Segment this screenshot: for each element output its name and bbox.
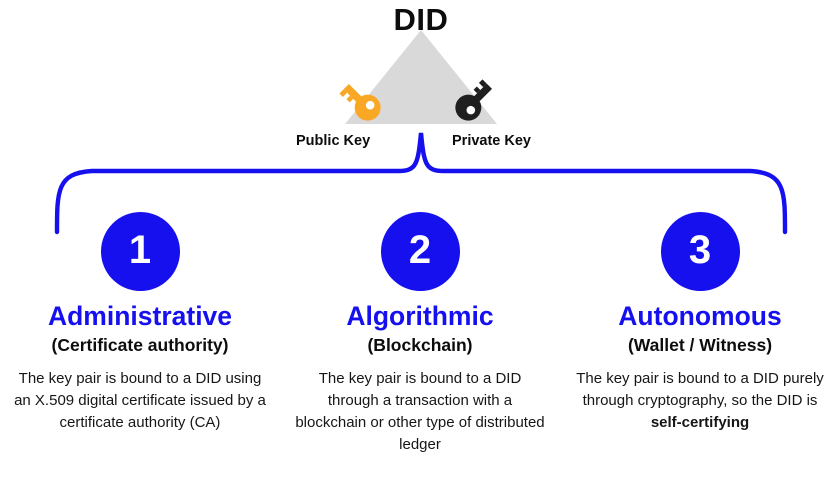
step-number-1: 1	[129, 230, 151, 270]
step-number-circle-2: 2	[381, 212, 460, 291]
step-number-3: 3	[689, 230, 711, 270]
column-heading-2: Algorithmic	[346, 301, 493, 331]
column-subheading-3: (Wallet / Witness)	[628, 334, 772, 356]
column-body-1: The key pair is bound to a DID using an …	[14, 368, 266, 434]
key-icon-private	[446, 78, 502, 126]
diagram-canvas: DID Public Key Private Key	[0, 0, 840, 484]
column-body-2: The key pair is bound to a DID through a…	[294, 368, 546, 456]
step-number-circle-1: 1	[101, 212, 180, 291]
column-body-text-2: The key pair is bound to a DID through a…	[295, 370, 544, 453]
key-icon-public	[334, 78, 390, 126]
column-autonomous: 3 Autonomous (Wallet / Witness) The key …	[560, 205, 840, 484]
step-number-2: 2	[409, 230, 431, 270]
column-body-bold-3: self-certifying	[651, 414, 749, 431]
column-subheading-1: (Certificate authority)	[52, 334, 229, 356]
column-administrative: 1 Administrative (Certificate authority)…	[0, 205, 280, 484]
step-number-circle-3: 3	[661, 212, 740, 291]
column-algorithmic: 2 Algorithmic (Blockchain) The key pair …	[280, 205, 560, 484]
column-heading-3: Autonomous	[618, 301, 781, 331]
column-heading-1: Administrative	[48, 301, 232, 331]
column-body-3: The key pair is bound to a DID purely th…	[574, 368, 826, 434]
column-body-text-1: The key pair is bound to a DID using an …	[14, 370, 266, 431]
column-body-text-3: The key pair is bound to a DID purely th…	[576, 370, 824, 409]
column-subheading-2: (Blockchain)	[367, 334, 472, 356]
column-list: 1 Administrative (Certificate authority)…	[0, 205, 840, 484]
